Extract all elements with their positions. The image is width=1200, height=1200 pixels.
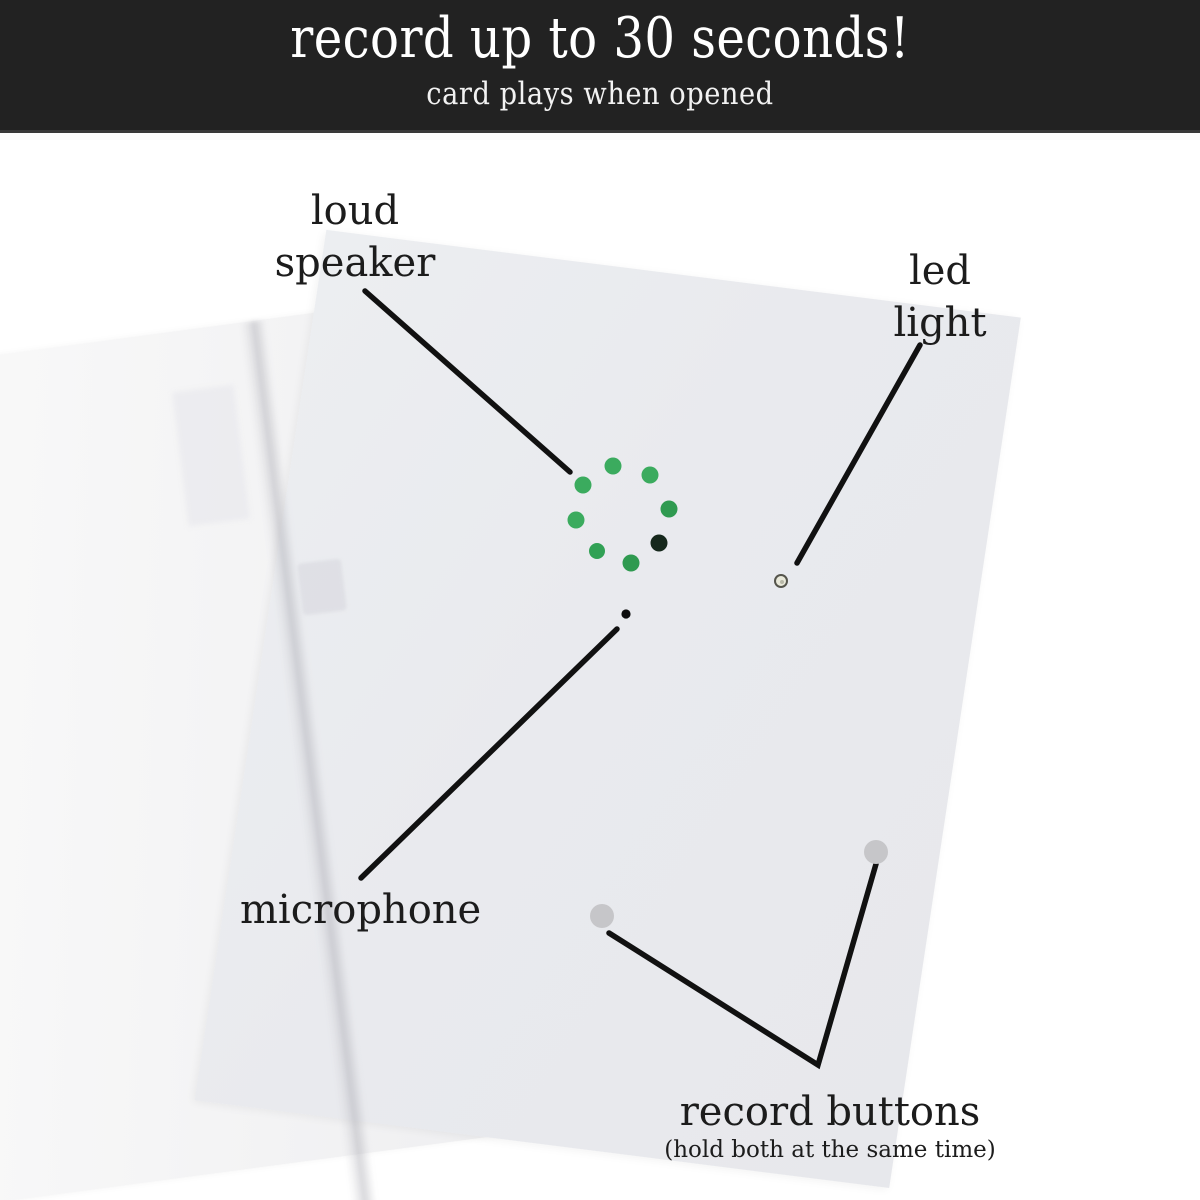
label-loud-speaker-line1: loud bbox=[311, 188, 399, 234]
card-adhesive-tab bbox=[297, 559, 347, 616]
label-microphone: microphone bbox=[240, 886, 481, 934]
label-led-light-line1: led bbox=[909, 248, 971, 294]
header-banner: record up to 30 seconds! card plays when… bbox=[0, 0, 1200, 133]
card-photo-area: loud speaker led light microphone record… bbox=[0, 133, 1200, 1200]
label-record-buttons: record buttons bbox=[600, 1088, 1060, 1136]
label-loud-speaker-line2: speaker bbox=[275, 240, 436, 286]
product-photo-infographic: loud speaker led light microphone record… bbox=[0, 0, 1200, 1200]
label-loud-speaker: loud speaker bbox=[205, 185, 505, 289]
label-led-light-line2: light bbox=[893, 300, 986, 346]
card-right-panel bbox=[195, 230, 1021, 1188]
header-subtitle: card plays when opened bbox=[72, 75, 1128, 113]
label-led-light: led light bbox=[820, 245, 1060, 349]
header-title: record up to 30 seconds! bbox=[84, 7, 1116, 71]
label-record-buttons-note: (hold both at the same time) bbox=[600, 1136, 1060, 1164]
